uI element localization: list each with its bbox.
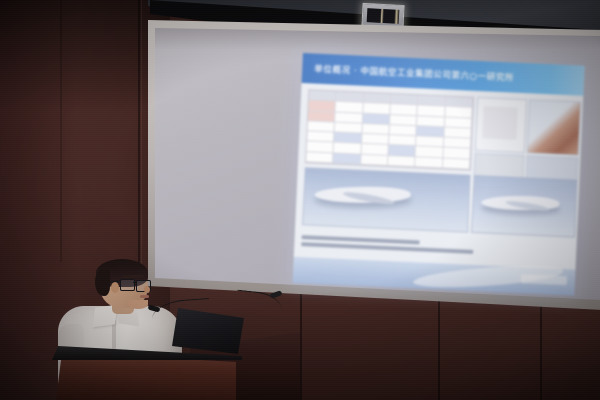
presenter-nose	[144, 286, 150, 293]
footer-logo-mark	[521, 274, 567, 285]
eyeglass-lens	[120, 279, 135, 291]
slide-panel-2	[527, 99, 581, 155]
projected-slide: 单位概况 · 中国航空工业集团公司第六○一研究所	[293, 53, 585, 296]
slide-photo-aircraft-right	[471, 175, 578, 238]
slide-caption-line	[301, 242, 473, 254]
slide-data-table	[305, 89, 474, 170]
photo-scene: 单位概况 · 中国航空工业集团公司第六○一研究所	[0, 0, 600, 400]
slide-body	[293, 83, 584, 296]
presenter-ear	[111, 282, 119, 293]
aircraft-icon	[481, 196, 559, 211]
presenter-chin	[128, 300, 148, 309]
slide-photo-aircraft-left	[302, 167, 470, 232]
presenter-hair-side	[95, 270, 110, 296]
wall-seam	[300, 292, 302, 400]
eyeglass-bridge	[133, 282, 137, 283]
aircraft-icon	[314, 186, 410, 204]
wall-seam	[60, 0, 62, 262]
slide-panel-1	[475, 97, 527, 153]
presenter-mouth	[140, 295, 149, 298]
slide-title-text: 单位概况 · 中国航空工业集团公司第六○一研究所	[302, 62, 514, 84]
